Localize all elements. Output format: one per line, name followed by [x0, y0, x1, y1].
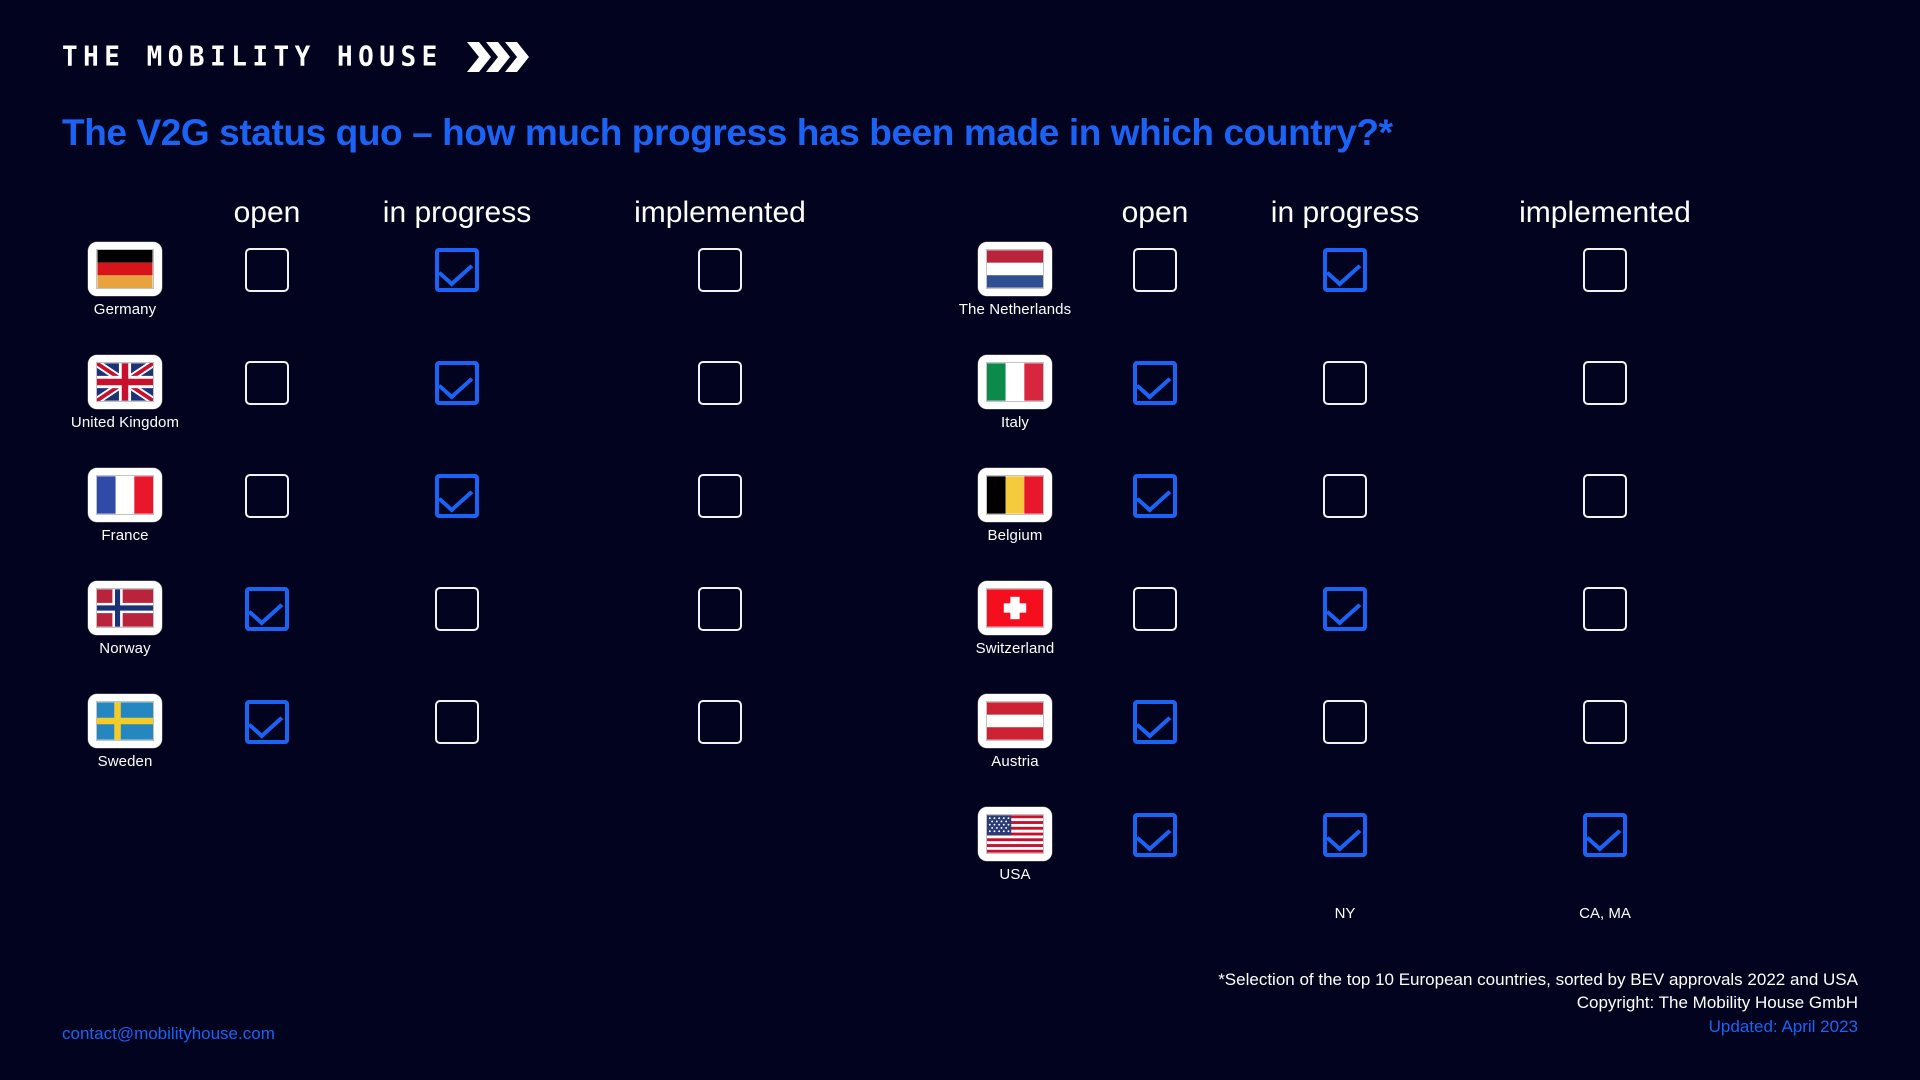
country-label: Switzerland: [976, 640, 1055, 657]
table-row: Switzerland: [930, 581, 1790, 694]
checkbox-implemented[interactable]: [1583, 587, 1627, 631]
checkbox-cell-implemented[interactable]: [698, 248, 742, 292]
checkbox-cell-open[interactable]: [1133, 813, 1177, 857]
triple-chevron-right-icon: [465, 40, 529, 74]
table-row: The Netherlands: [930, 242, 1790, 355]
flag-germany-icon: [88, 242, 162, 296]
flag-austria-icon: [978, 694, 1052, 748]
checkbox-cell-implemented[interactable]: [1583, 700, 1627, 744]
checkbox-cell-in-progress[interactable]: [435, 587, 479, 631]
country-label: Belgium: [988, 527, 1043, 544]
footer-notes: *Selection of the top 10 European countr…: [1218, 968, 1858, 1038]
checkbox-cell-open[interactable]: [245, 700, 289, 744]
country-cell: The Netherlands: [930, 242, 1100, 318]
table-row: Italy: [930, 355, 1790, 468]
slide-root: THE MOBILITY HOUSE The V2G status quo – …: [0, 0, 1920, 1080]
country-cell: Italy: [930, 355, 1100, 431]
checkbox-cell-in-progress[interactable]: [1323, 248, 1367, 292]
checkbox-implemented[interactable]: [698, 474, 742, 518]
country-label: Sweden: [98, 753, 153, 770]
checkbox-sublabel-ca-ma: CA, MA: [1579, 905, 1631, 922]
flag-norway-icon: [88, 581, 162, 635]
checkbox-cell-in-progress[interactable]: [435, 700, 479, 744]
checkbox-cell-open[interactable]: [1133, 248, 1177, 292]
country-label: United Kingdom: [71, 414, 179, 431]
footnote-updated: Updated: April 2023: [1218, 1015, 1858, 1038]
country-cell: Belgium: [930, 468, 1100, 544]
flag-sweden-icon: [88, 694, 162, 748]
country-label: USA: [999, 866, 1030, 883]
checkbox-open[interactable]: [1133, 474, 1177, 518]
checkbox-implemented[interactable]: [1583, 474, 1627, 518]
checkbox-cell-in-progress[interactable]: [1323, 361, 1367, 405]
checkbox-cell-open[interactable]: [245, 361, 289, 405]
contact-email-link[interactable]: contact@mobilityhouse.com: [62, 1024, 275, 1044]
right-header-in-progress: in progress: [1271, 196, 1419, 230]
checkbox-cell-open[interactable]: [1133, 361, 1177, 405]
page-title: The V2G status quo – how much progress h…: [62, 112, 1393, 154]
checkbox-cell-implemented[interactable]: [1583, 361, 1627, 405]
checkbox-in-progress[interactable]: [435, 587, 479, 631]
table-row: Austria: [930, 694, 1790, 807]
checkbox-open[interactable]: [1133, 700, 1177, 744]
flag-switzerland-icon: [978, 581, 1052, 635]
checkbox-cell-implemented[interactable]: [698, 587, 742, 631]
country-cell: Germany: [40, 242, 210, 318]
checkbox-in-progress[interactable]: [1323, 587, 1367, 631]
checkbox-in-progress[interactable]: [435, 361, 479, 405]
checkbox-cell-open[interactable]: [1133, 700, 1177, 744]
checkbox-open[interactable]: [1133, 813, 1177, 857]
brand-logo-text: THE MOBILITY HOUSE: [62, 41, 443, 73]
country-label: Germany: [94, 301, 156, 318]
checkbox-implemented[interactable]: [698, 700, 742, 744]
table-row: Norway: [40, 581, 920, 694]
checkbox-implemented[interactable]: [698, 361, 742, 405]
checkbox-sublabel-ny: NY: [1335, 905, 1356, 922]
checkbox-cell-open[interactable]: [1133, 474, 1177, 518]
checkbox-cell-implemented[interactable]: [698, 700, 742, 744]
checkbox-cell-implemented[interactable]: [698, 361, 742, 405]
table-row: France: [40, 468, 920, 581]
country-cell: Norway: [40, 581, 210, 657]
checkbox-implemented[interactable]: [1583, 700, 1627, 744]
checkbox-in-progress[interactable]: [1323, 813, 1367, 857]
checkbox-cell-implemented[interactable]: [698, 474, 742, 518]
checkbox-implemented[interactable]: [1583, 248, 1627, 292]
checkbox-in-progress[interactable]: [1323, 474, 1367, 518]
checkbox-in-progress[interactable]: [1323, 248, 1367, 292]
checkbox-open[interactable]: [245, 248, 289, 292]
table-row: USA NY CA, MA: [930, 807, 1790, 920]
flag-netherlands-icon: [978, 242, 1052, 296]
checkbox-implemented[interactable]: [1583, 813, 1627, 857]
left-country-table: open in progress implemented Germany: [40, 196, 920, 807]
checkbox-cell-in-progress[interactable]: [435, 361, 479, 405]
table-row: Sweden: [40, 694, 920, 807]
right-header-implemented: implemented: [1519, 196, 1691, 230]
country-cell: Sweden: [40, 694, 210, 770]
flag-italy-icon: [978, 355, 1052, 409]
checkbox-implemented[interactable]: [698, 587, 742, 631]
left-column-headers: open in progress implemented: [40, 196, 920, 242]
checkbox-cell-in-progress[interactable]: [1323, 474, 1367, 518]
country-label: Austria: [991, 753, 1038, 770]
checkbox-implemented[interactable]: [1583, 361, 1627, 405]
country-cell: Switzerland: [930, 581, 1100, 657]
checkbox-in-progress[interactable]: [435, 474, 479, 518]
checkbox-cell-open[interactable]: [245, 474, 289, 518]
table-row: United Kingdom: [40, 355, 920, 468]
checkbox-cell-in-progress[interactable]: [435, 474, 479, 518]
checkbox-cell-in-progress[interactable]: [435, 248, 479, 292]
checkbox-cell-implemented[interactable]: [1583, 587, 1627, 631]
checkbox-open[interactable]: [1133, 361, 1177, 405]
flag-belgium-icon: [978, 468, 1052, 522]
checkbox-open[interactable]: [1133, 587, 1177, 631]
country-label: Italy: [1001, 414, 1029, 431]
right-header-open: open: [1122, 196, 1189, 230]
brand-logo: THE MOBILITY HOUSE: [62, 40, 529, 74]
country-label: France: [101, 527, 148, 544]
checkbox-implemented[interactable]: [698, 248, 742, 292]
checkbox-in-progress[interactable]: [1323, 361, 1367, 405]
country-cell: Austria: [930, 694, 1100, 770]
country-cell: France: [40, 468, 210, 544]
country-label: Norway: [99, 640, 150, 657]
country-cell: USA: [930, 807, 1100, 883]
footnote-selection: *Selection of the top 10 European countr…: [1218, 968, 1858, 991]
flag-united-kingdom-icon: [88, 355, 162, 409]
right-column-headers: open in progress implemented: [930, 196, 1790, 242]
checkbox-open[interactable]: [245, 700, 289, 744]
table-row: Germany: [40, 242, 920, 355]
flag-france-icon: [88, 468, 162, 522]
right-country-table: open in progress implemented The Netherl…: [930, 196, 1790, 920]
checkbox-cell-implemented[interactable]: CA, MA: [1583, 813, 1627, 857]
country-cell: United Kingdom: [40, 355, 210, 431]
checkbox-open[interactable]: [1133, 248, 1177, 292]
checkbox-in-progress[interactable]: [435, 700, 479, 744]
checkbox-cell-in-progress[interactable]: [1323, 587, 1367, 631]
checkbox-open[interactable]: [245, 361, 289, 405]
country-label: The Netherlands: [959, 301, 1071, 318]
checkbox-cell-open[interactable]: [1133, 587, 1177, 631]
checkbox-cell-implemented[interactable]: [1583, 248, 1627, 292]
flag-usa-icon: [978, 807, 1052, 861]
checkbox-cell-in-progress[interactable]: NY: [1323, 813, 1367, 857]
checkbox-open[interactable]: [245, 587, 289, 631]
checkbox-in-progress[interactable]: [1323, 700, 1367, 744]
checkbox-cell-implemented[interactable]: [1583, 474, 1627, 518]
footnote-copyright: Copyright: The Mobility House GmbH: [1218, 991, 1858, 1014]
left-header-implemented: implemented: [634, 196, 806, 230]
table-row: Belgium: [930, 468, 1790, 581]
checkbox-open[interactable]: [245, 474, 289, 518]
left-header-in-progress: in progress: [383, 196, 531, 230]
left-header-open: open: [234, 196, 301, 230]
checkbox-cell-in-progress[interactable]: [1323, 700, 1367, 744]
checkbox-cell-open[interactable]: [245, 587, 289, 631]
checkbox-in-progress[interactable]: [435, 248, 479, 292]
checkbox-cell-open[interactable]: [245, 248, 289, 292]
